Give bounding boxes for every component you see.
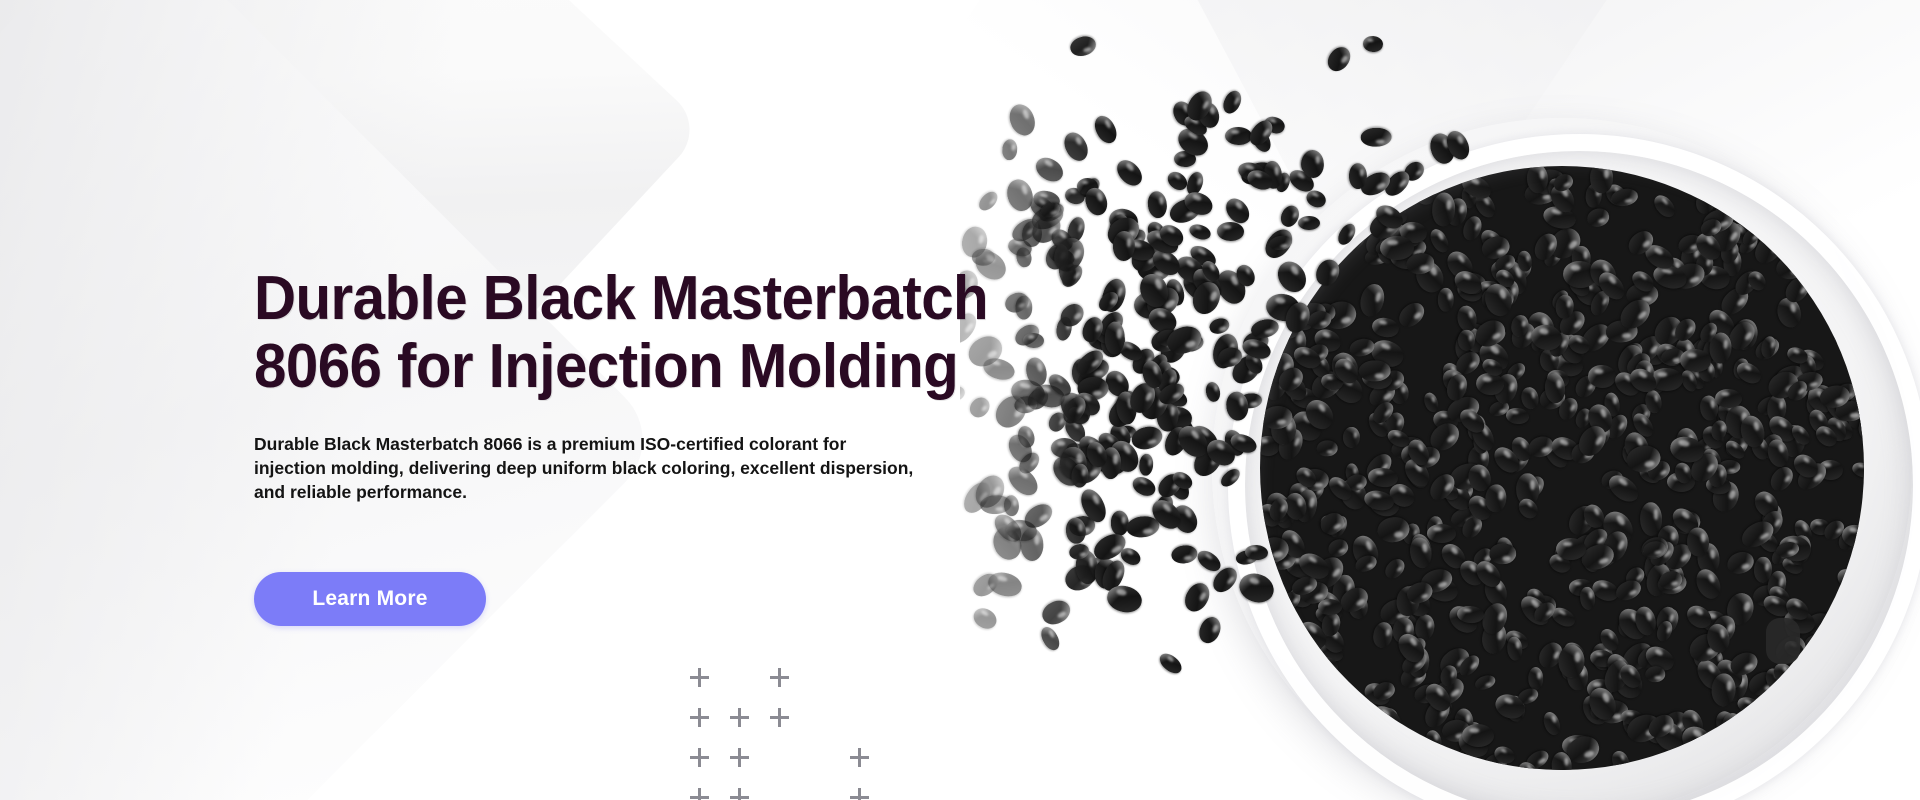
hero-banner: Durable Black Masterbatch 8066 for Injec… [0,0,1920,800]
pellet-granule [1180,579,1214,616]
pellet-granule [1263,749,1290,770]
learn-more-button[interactable]: Learn More [254,572,486,626]
pellet-granule [1300,754,1329,770]
pellet-granule [1217,221,1245,241]
pellet-granule [1187,222,1213,243]
plus-mark-icon [690,708,709,727]
plus-mark-icon [690,788,709,800]
plus-pattern-decoration [690,668,920,800]
plus-mark-icon [770,708,789,727]
page-title-line-1: Durable Black Masterbatch [254,265,1119,333]
plus-mark-icon [850,788,869,800]
pellet-bowl-foot [1766,618,1800,664]
plus-mark-icon [690,668,709,687]
pellet-granule [1298,216,1320,230]
plus-mark-icon [730,748,749,767]
plus-mark-icon [730,788,749,800]
pellet-granule [1349,163,1367,189]
page-title-line-2: 8066 for Injection Molding [254,333,1119,401]
pellet-bowl-rim [1228,134,1920,800]
hero-description: Durable Black Masterbatch 8066 is a prem… [254,432,922,504]
plus-mark-icon [690,748,709,767]
plus-mark-icon [850,748,869,767]
plus-mark-icon [770,668,789,687]
plus-mark-icon [730,708,749,727]
pellet-granule [1260,664,1273,685]
pellet-granule [1195,614,1224,647]
page-title: Durable Black Masterbatch 8066 for Injec… [254,265,1119,401]
